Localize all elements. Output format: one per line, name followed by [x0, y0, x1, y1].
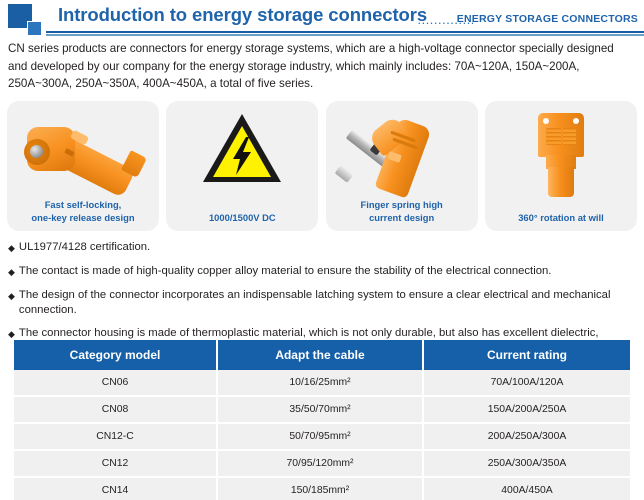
cell-adapt-the-cable: 50/70/95mm²	[218, 424, 424, 451]
cell-category-model: CN12-C	[14, 424, 218, 451]
list-item-text: The design of the connector incorporates…	[19, 288, 636, 318]
warning-triangle	[200, 111, 284, 192]
cell-current-rating: 200A/250A/300A	[424, 424, 630, 451]
cell-current-rating: 70A/100A/120A	[424, 370, 630, 397]
connector-vent-divider	[561, 128, 563, 145]
diamond-bullet-icon: ◆	[8, 288, 15, 318]
warning-triangle-svg	[200, 111, 284, 187]
column-header-category-model: Category model	[14, 340, 218, 370]
header-rule-dark	[46, 31, 644, 33]
table-row: CN12-C 50/70/95mm² 200A/250A/300A	[14, 424, 630, 451]
list-item-text: The contact is made of high-quality copp…	[19, 264, 636, 280]
list-item-text: UL1977/4128 certification.	[19, 240, 636, 256]
feature-card-label-line1: 1000/1500V DC	[170, 212, 314, 225]
feature-card-label-line2: current design	[330, 212, 474, 225]
diamond-bullet-icon: ◆	[8, 240, 15, 256]
feature-card-label: Finger spring high current design	[330, 199, 474, 224]
cell-category-model: CN06	[14, 370, 218, 397]
feature-card-self-locking: Fast self-locking, one-key release desig…	[7, 101, 159, 231]
cell-current-rating: 250A/300A/350A	[424, 451, 630, 478]
metal-foot	[334, 165, 353, 183]
feature-card-voltage: 1000/1500V DC	[166, 101, 318, 231]
table-row: CN14 150/185mm² 400A/450A	[14, 478, 630, 500]
column-header-current-rating: Current rating	[424, 340, 630, 370]
feature-card-label-line1: Finger spring high	[330, 199, 474, 212]
intro-paragraph: CN series products are connectors for en…	[8, 40, 636, 93]
cell-current-rating: 400A/450A	[424, 478, 630, 500]
rotating-connector-icon	[485, 105, 637, 193]
table-header-row: Category model Adapt the cable Current r…	[14, 340, 630, 370]
list-item: ◆ UL1977/4128 certification.	[8, 240, 636, 256]
list-item: ◆ The contact is made of high-quality co…	[8, 264, 636, 280]
column-header-adapt-the-cable: Adapt the cable	[218, 340, 424, 370]
connector-hole-right	[573, 118, 579, 124]
feature-card-label: 360° rotation at will	[489, 212, 633, 225]
table-row: CN12 70/95/120mm² 250A/300A/350A	[14, 451, 630, 478]
page-title: Introduction to energy storage connector…	[58, 4, 427, 26]
table-row: CN08 35/50/70mm² 150A/200A/250A	[14, 397, 630, 424]
cell-category-model: CN08	[14, 397, 218, 424]
finger-spring-connector-icon	[326, 105, 478, 193]
logo-square-small	[27, 21, 42, 36]
cell-adapt-the-cable: 35/50/70mm²	[218, 397, 424, 424]
feature-card-finger-spring: Finger spring high current design	[326, 101, 478, 231]
connector-shaft	[548, 167, 574, 197]
feature-card-list: Fast self-locking, one-key release desig…	[7, 101, 637, 231]
feature-card-label-line1: 360° rotation at will	[489, 212, 633, 225]
feature-card-label: Fast self-locking, one-key release desig…	[11, 199, 155, 224]
cell-adapt-the-cable: 70/95/120mm²	[218, 451, 424, 478]
cell-current-rating: 150A/200A/250A	[424, 397, 630, 424]
cell-category-model: CN12	[14, 451, 218, 478]
high-voltage-warning-icon	[166, 105, 318, 193]
cell-category-model: CN14	[14, 478, 218, 500]
feature-card-label-line2: one-key release design	[11, 212, 155, 225]
diamond-bullet-icon: ◆	[8, 264, 15, 280]
header-rule-light	[46, 34, 644, 36]
feature-card-label: 1000/1500V DC	[170, 212, 314, 225]
table-row: CN06 10/16/25mm² 70A/100A/120A	[14, 370, 630, 397]
datasheet-page: Introduction to energy storage connector…	[0, 0, 644, 500]
specification-table: Category model Adapt the cable Current r…	[14, 340, 630, 500]
angled-connector-icon	[7, 105, 159, 193]
feature-card-rotation: 360° rotation at will	[485, 101, 637, 231]
cell-adapt-the-cable: 150/185mm²	[218, 478, 424, 500]
connector-pin	[30, 145, 43, 158]
page-header: Introduction to energy storage connector…	[0, 0, 644, 38]
header-subtitle: ENERGY STORAGE CONNECTORS	[457, 13, 638, 25]
cell-adapt-the-cable: 10/16/25mm²	[218, 370, 424, 397]
connector-hole-left	[543, 118, 549, 124]
list-item: ◆ The design of the connector incorporat…	[8, 288, 636, 318]
feature-card-label-line1: Fast self-locking,	[11, 199, 155, 212]
